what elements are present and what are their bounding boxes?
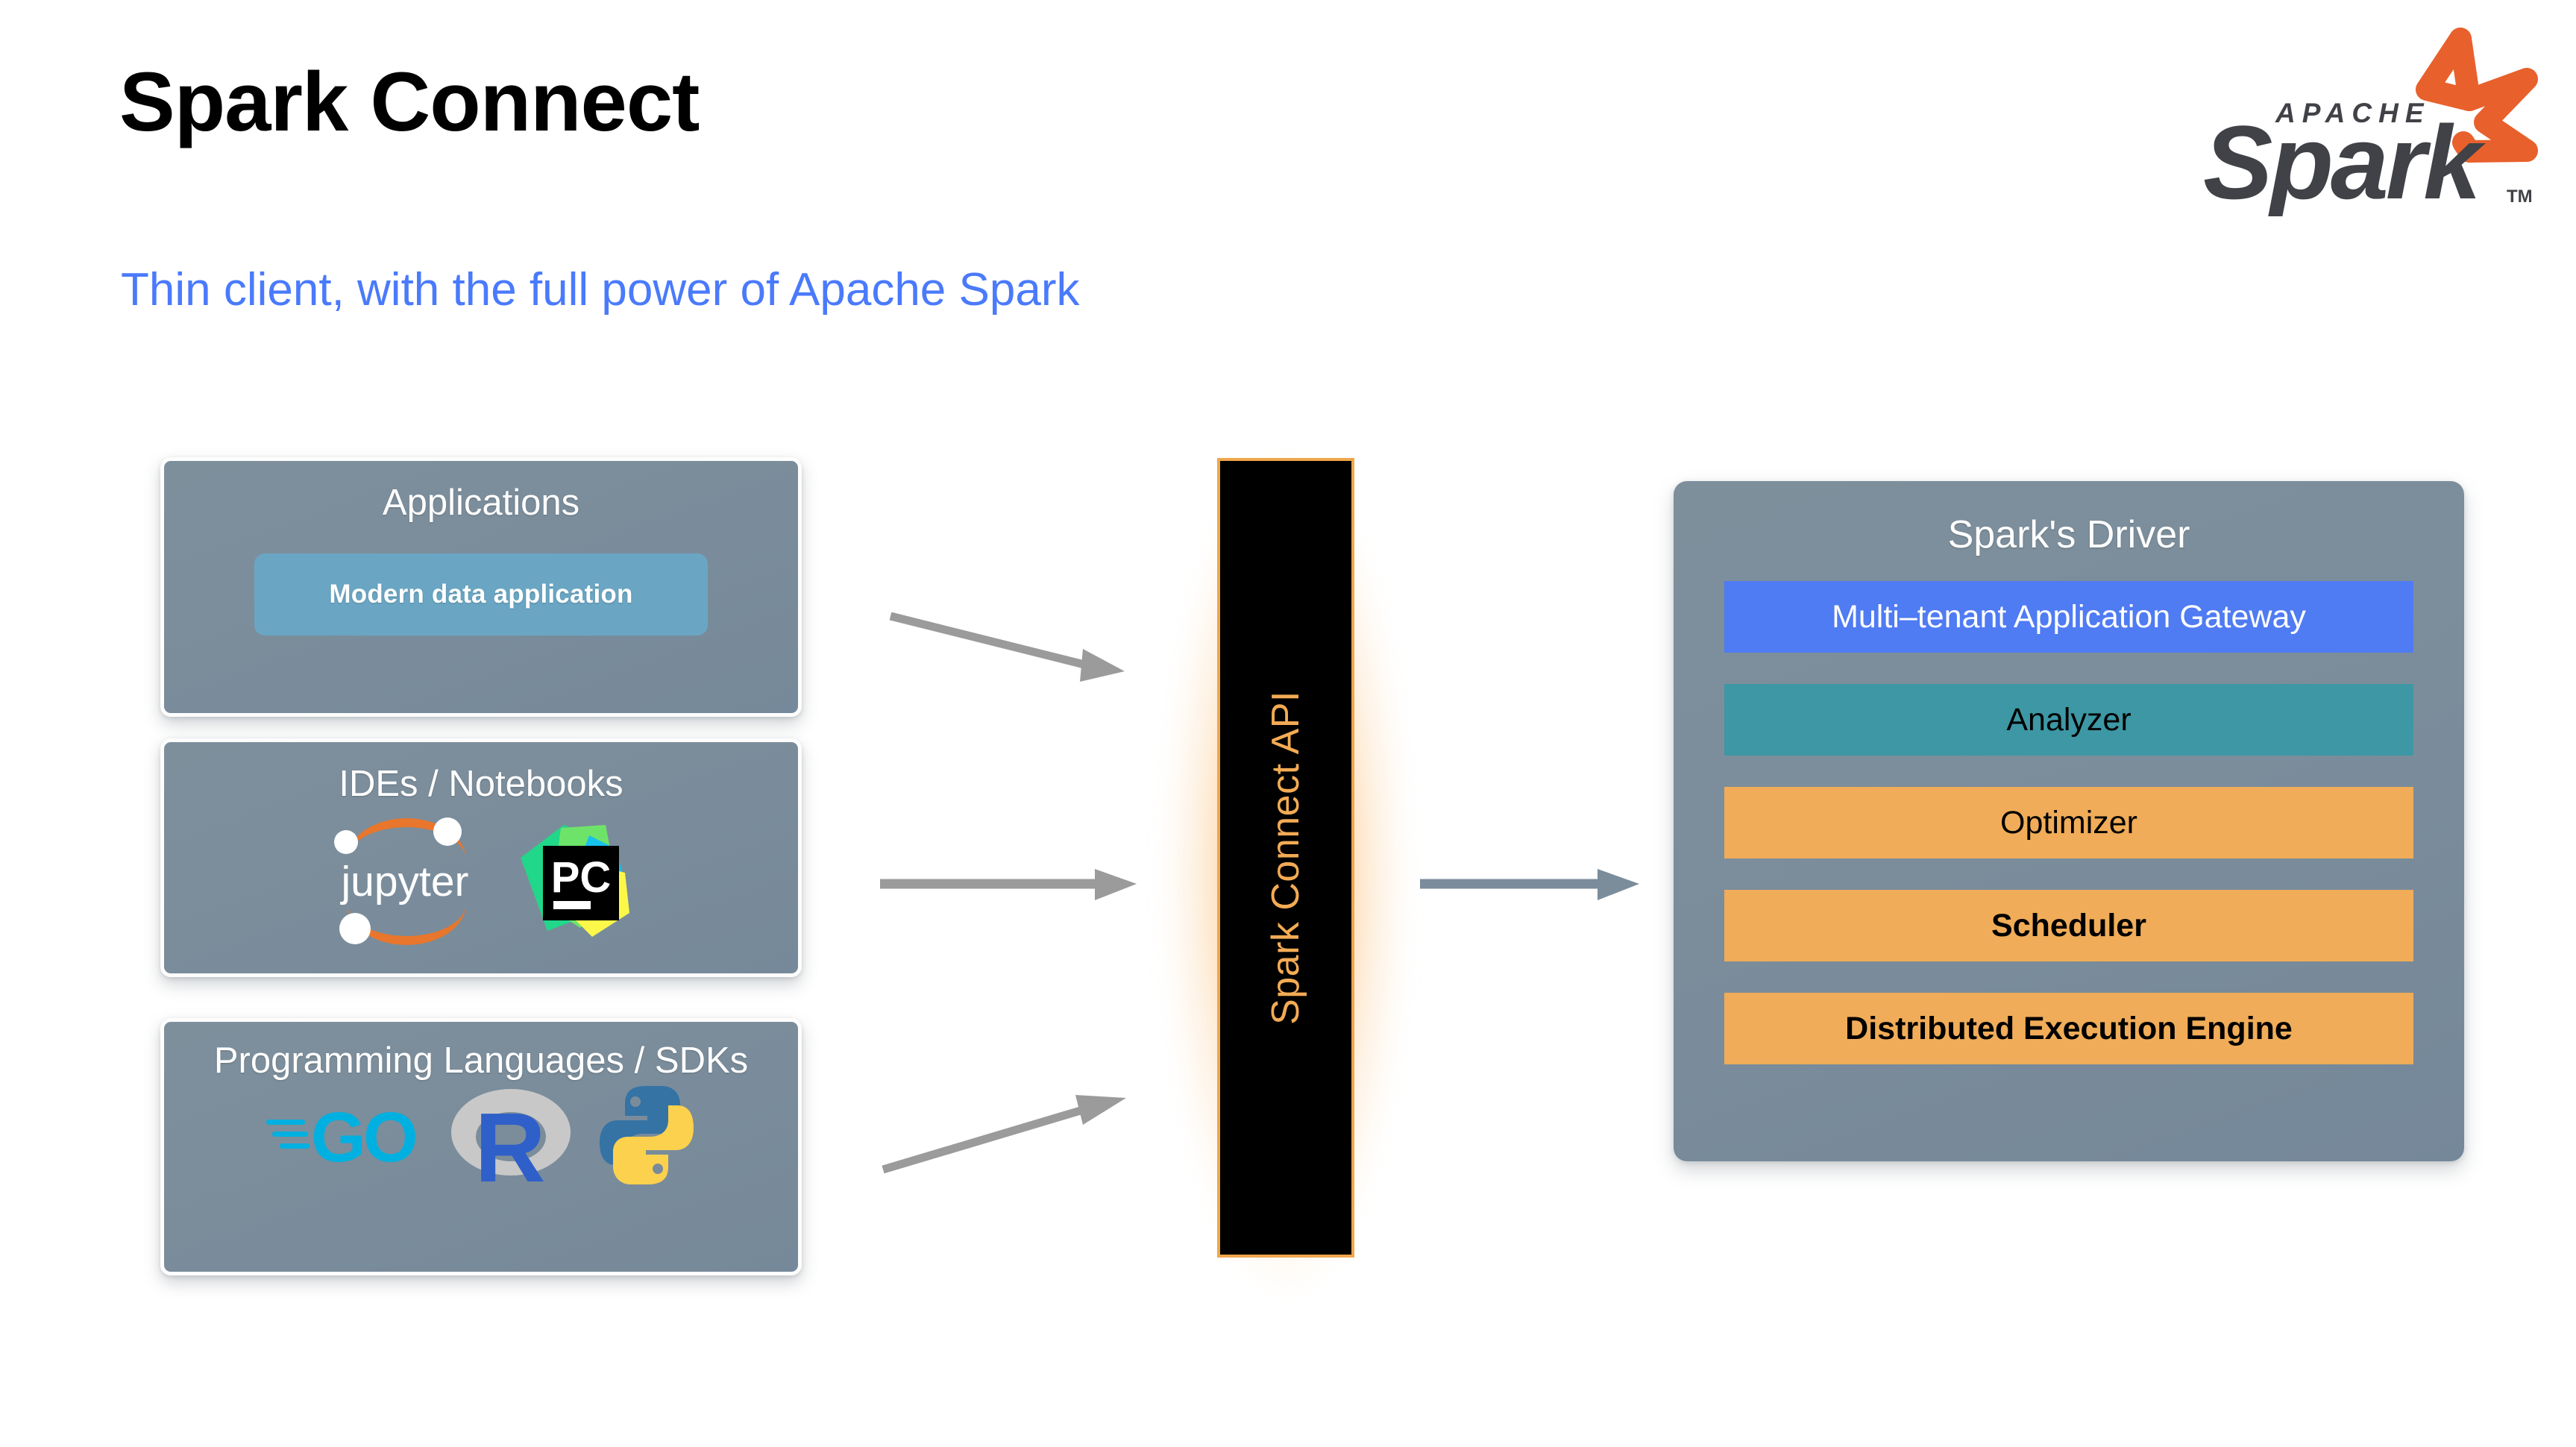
driver-component-multi-tenant-application-gateway[interactable]: Multi–tenant Application Gateway [1724, 581, 2413, 653]
arrow-languages-to-api [880, 1082, 1134, 1178]
jupyter-dot-topright-icon [433, 817, 462, 846]
go-wordmark: GO [311, 1098, 415, 1176]
client-card-programming-languages[interactable]: Programming Languages / SDKs GO R [160, 1018, 802, 1275]
card-title-applications: Applications [164, 482, 798, 524]
page-title: Spark Connect [119, 58, 699, 146]
arrow-applications-to-api [888, 604, 1134, 694]
trademark-symbol: TM [2507, 186, 2533, 207]
ides-logo-row: jupyter PC [164, 815, 798, 946]
page-subtitle: Thin client, with the full power of Apac… [121, 265, 1079, 316]
api-bar-label: Spark Connect API [1263, 691, 1308, 1025]
driver-panel-title: Spark's Driver [1674, 512, 2464, 557]
card-title-programming-languages: Programming Languages / SDKs [164, 1040, 798, 1082]
driver-component-analyzer[interactable]: Analyzer [1724, 684, 2413, 756]
card-title-ides-notebooks: IDEs / Notebooks [164, 763, 798, 805]
r-letter: R [474, 1093, 545, 1187]
pycharm-letters: PC [550, 853, 611, 902]
spark-connect-api-bar[interactable]: Spark Connect API [1217, 458, 1354, 1258]
go-speed-lines-icon [266, 1120, 310, 1149]
jupyter-wordmark: jupyter [339, 858, 468, 905]
python-logo [597, 1083, 697, 1187]
apache-spark-logo-svg: APACHE Spark TM [2176, 13, 2549, 216]
go-logo: GO [265, 1094, 425, 1176]
driver-component-scheduler[interactable]: Scheduler [1724, 890, 2413, 961]
spark-driver-panel[interactable]: Spark's Driver Multi–tenant Application … [1674, 481, 2464, 1161]
jupyter-dot-bottomleft-icon [339, 913, 371, 944]
driver-component-distributed-execution-engine[interactable]: Distributed Execution Engine [1724, 993, 2413, 1064]
arrow-ides-to-api [880, 861, 1141, 906]
api-bar-body: Spark Connect API [1217, 458, 1354, 1258]
arrow-api-to-driver [1420, 861, 1644, 906]
apache-spark-logo: APACHE Spark TM [2176, 13, 2549, 216]
r-logo: R [447, 1083, 574, 1187]
driver-components-list: Multi–tenant Application Gateway Analyze… [1674, 581, 2464, 1064]
pycharm-underscore-icon [553, 901, 591, 909]
jupyter-logo: jupyter [328, 815, 485, 946]
spark-wordmark: Spark [2203, 104, 2486, 216]
modern-data-application-pill[interactable]: Modern data application [254, 553, 708, 635]
client-card-ides-notebooks[interactable]: IDEs / Notebooks jupyter PC [160, 738, 802, 977]
jupyter-dot-topleft-icon [334, 830, 358, 854]
pycharm-logo: PC [512, 819, 635, 942]
languages-logo-row: GO R [164, 1083, 798, 1187]
driver-component-optimizer[interactable]: Optimizer [1724, 787, 2413, 859]
client-card-applications[interactable]: Applications Modern data application [160, 457, 802, 717]
